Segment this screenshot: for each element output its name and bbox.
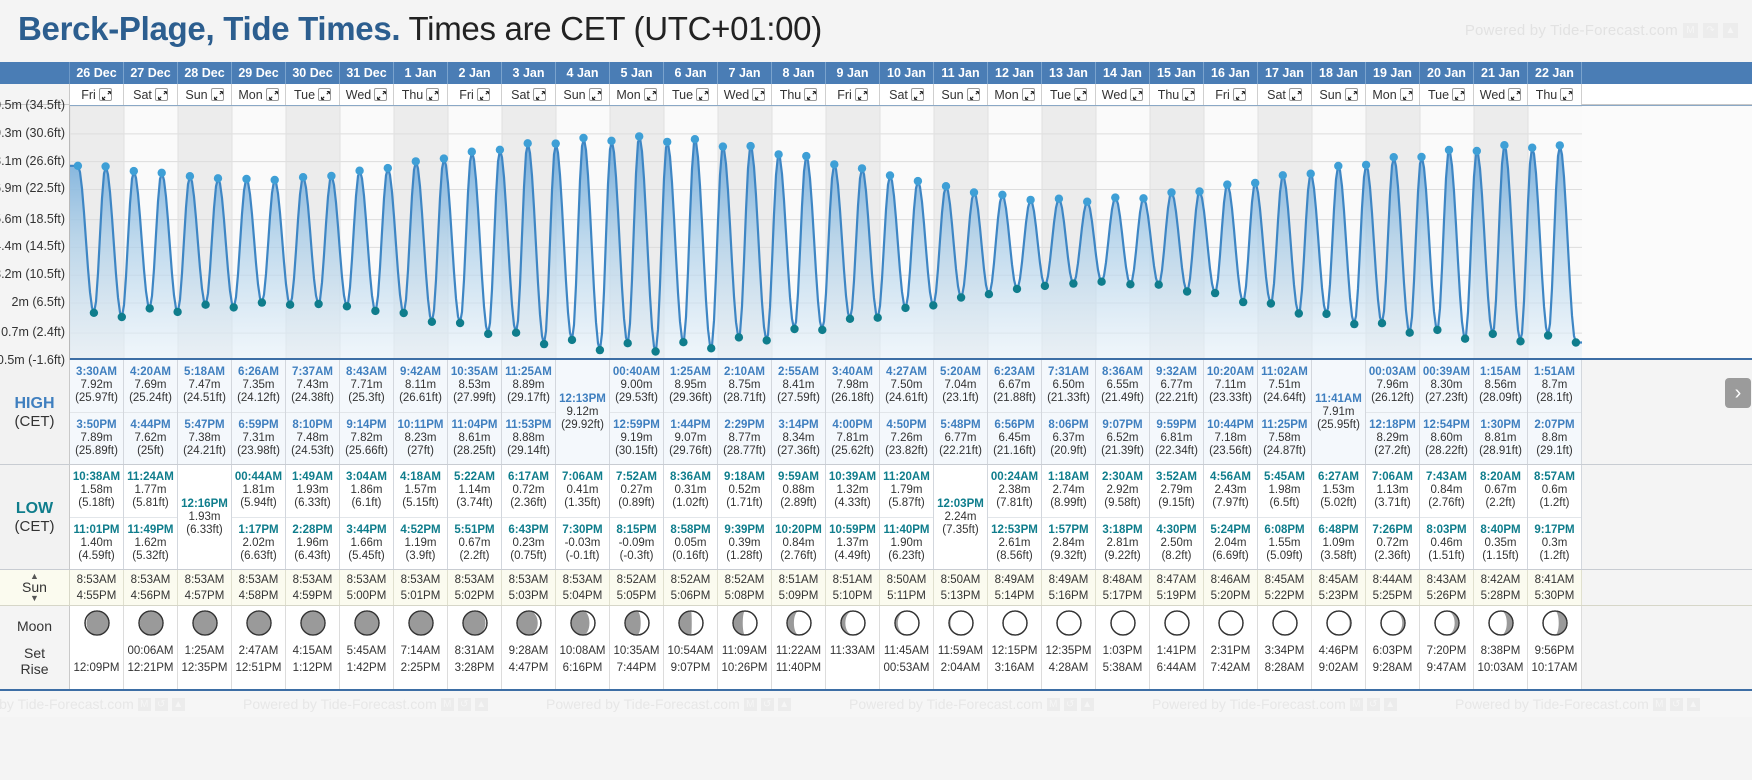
footer-watermark-text: Powered by Tide-Forecast.com	[0, 696, 134, 712]
date-header-cell[interactable]: 10 Jan	[880, 62, 934, 84]
high-tide-height-m: 6.55m	[1107, 379, 1139, 392]
expand-icon[interactable]	[1452, 88, 1465, 101]
high-tide-height-ft: (25.62ft)	[831, 445, 874, 458]
moon-cell: 9:28AM4:47PM	[502, 606, 556, 689]
sunrise-time: 8:49AM	[995, 573, 1035, 587]
sunrise-time: 8:53AM	[131, 573, 171, 587]
high-tide-cell: 1:15AM8.56m(28.09ft)1:30PM8.81m(28.91ft)	[1474, 360, 1528, 464]
high-tide-cell: 12:13PM9.12m(29.92ft)	[556, 360, 610, 464]
moon-label: Moon Set Rise	[0, 606, 70, 689]
expand-icon[interactable]	[1022, 88, 1035, 101]
low-tide-height-ft: (2.36ft)	[510, 497, 546, 510]
weekday-header-cell: Tue	[1042, 84, 1096, 105]
low-tide-time: 1:18AM	[1048, 471, 1089, 484]
low-tide-height-ft: (5.45ft)	[348, 550, 384, 563]
high-tide-time: 00:03AM	[1369, 366, 1416, 379]
low-tide-height-ft: (2.76ft)	[1428, 497, 1464, 510]
high-tide-event: 9:07PM6.52m(21.39ft)	[1096, 412, 1149, 465]
low-tide-event: 7:52AM0.27m(0.89ft)	[610, 465, 663, 517]
low-tide-height-m: 1.66m	[351, 537, 383, 550]
expand-icon[interactable]	[804, 88, 817, 101]
high-tide-event: 1:51AM8.7m(28.1ft)	[1528, 360, 1581, 412]
high-tide-time: 5:20AM	[940, 366, 981, 379]
low-tide-event: 12:53PM2.61m(8.56ft)	[988, 517, 1041, 570]
sunrise-time: 8:51AM	[779, 573, 819, 587]
expand-icon[interactable]	[911, 88, 924, 101]
sunrise-time: 8:52AM	[725, 573, 765, 587]
low-tide-time: 7:26PM	[1372, 524, 1412, 537]
high-tide-row: HIGH (CET) 3:30AM7.92m(25.97ft)3:50PM7.8…	[0, 360, 1752, 465]
high-tide-event: 8:06PM6.37m(20.9ft)	[1042, 412, 1095, 465]
high-tide-height-m: 8.41m	[783, 379, 815, 392]
low-tide-cell: 7:52AM0.27m(0.89ft)8:15PM-0.09m(-0.3ft)	[610, 465, 664, 569]
expand-icon[interactable]	[644, 88, 657, 101]
weekday-header-cell: Sat	[1258, 84, 1312, 105]
moon-phase-icon	[84, 610, 110, 641]
date-header-cell[interactable]: 31 Dec	[340, 62, 394, 84]
footer-watermark: Powered by Tide-Forecast.comM↺▲	[849, 696, 1094, 712]
expand-icon[interactable]	[589, 88, 602, 101]
footer-watermark: Powered by Tide-Forecast.comM↺▲	[1455, 696, 1700, 712]
high-tide-event: 3:14PM8.34m(27.36ft)	[772, 412, 825, 465]
date-header-cell[interactable]: 17 Jan	[1258, 62, 1312, 84]
high-tide-height-ft: (27.99ft)	[453, 392, 496, 405]
moon-phase-icon	[354, 610, 380, 641]
low-tide-event: 11:24AM1.77m(5.81ft)	[124, 465, 177, 517]
expand-icon[interactable]	[752, 88, 765, 101]
high-tide-height-ft: (29.1ft)	[1536, 445, 1572, 458]
low-tide-time: 8:03PM	[1426, 524, 1466, 537]
expand-icon[interactable]	[1508, 88, 1521, 101]
moon-phase-icon	[1218, 610, 1244, 641]
low-tide-height-ft: (5.32ft)	[132, 550, 168, 563]
scroll-right-arrow-icon[interactable]: ›	[1725, 378, 1751, 408]
expand-icon[interactable]	[1182, 88, 1195, 101]
expand-icon[interactable]	[967, 88, 980, 101]
date-header-cell[interactable]: 28 Dec	[178, 62, 232, 84]
high-tide-height-m: 6.37m	[1053, 432, 1085, 445]
high-tide-height-m: 6.77m	[1161, 379, 1193, 392]
weekday-header-cell: Sun	[178, 84, 232, 105]
expand-icon[interactable]	[1345, 88, 1358, 101]
high-tide-event: 2:07PM8.8m(29.1ft)	[1528, 412, 1581, 465]
high-tide-height-ft: (22.34ft)	[1155, 445, 1198, 458]
low-tide-height-ft: (5.94ft)	[240, 497, 276, 510]
low-tide-height-ft: (5.09ft)	[1266, 550, 1302, 563]
weekday-header-cell: Thu	[1150, 84, 1204, 105]
expand-icon[interactable]	[1400, 88, 1413, 101]
low-tide-time: 3:44PM	[346, 524, 386, 537]
high-tide-height-ft: (24.12ft)	[237, 392, 280, 405]
moon-cell: 1:03PM5:38AM	[1096, 606, 1150, 689]
moonset-time: 12:35PM	[1045, 643, 1091, 660]
low-tide-event: 9:59AM0.88m(2.89ft)	[772, 465, 825, 517]
high-tide-height-ft: (24.61ft)	[885, 392, 928, 405]
low-tide-time: 8:58PM	[670, 524, 710, 537]
low-tide-time: 6:17AM	[508, 471, 549, 484]
moon-cell: 4:15AM1:12PM	[286, 606, 340, 689]
footer-watermark-text: Powered by Tide-Forecast.com	[243, 696, 437, 712]
expand-icon[interactable]	[155, 88, 168, 101]
high-tide-event: 2:10AM8.75m(28.71ft)	[718, 360, 771, 412]
sunrise-time: 8:46AM	[1211, 573, 1251, 587]
low-tide-time: 1:57PM	[1048, 524, 1088, 537]
footer-watermark-text: Powered by Tide-Forecast.com	[1455, 696, 1649, 712]
low-tide-height-ft: (6.33ft)	[294, 497, 330, 510]
low-tide-height-m: 0.88m	[783, 484, 815, 497]
date-header-cell[interactable]: 15 Jan	[1150, 62, 1204, 84]
high-tide-time: 11:25PM	[1261, 419, 1307, 432]
high-tide-time: 2:10AM	[724, 366, 765, 379]
high-tide-event: 8:43AM7.71m(25.3ft)	[340, 360, 393, 412]
expand-icon[interactable]	[374, 88, 387, 101]
footer-watermark-text: Powered by Tide-Forecast.com	[849, 696, 1043, 712]
moon-cell: 12:09PM	[70, 606, 124, 689]
moonset-time: 11:45AM	[884, 643, 929, 660]
low-tide-event: 5:45AM1.98m(6.5ft)	[1258, 465, 1311, 517]
moon-phase-icon	[1380, 610, 1406, 641]
high-tide-time: 9:42AM	[400, 366, 441, 379]
y-axis-tick-label: 0.7m (2.4ft)	[1, 325, 65, 339]
high-tide-cell: 5:18AM7.47m(24.51ft)5:47PM7.38m(24.21ft)	[178, 360, 232, 464]
moon-cell: 9:56PM10:17AM	[1528, 606, 1582, 689]
high-tide-time: 12:13PM	[559, 393, 606, 406]
low-tide-event: 8:40PM0.35m(1.15ft)	[1474, 517, 1527, 570]
high-tide-height-m: 7.04m	[945, 379, 977, 392]
low-tide-time: 6:48PM	[1318, 524, 1358, 537]
moon-cell: 2:47AM12:51PM	[232, 606, 286, 689]
expand-icon[interactable]	[211, 88, 224, 101]
moon-phase-icon	[300, 610, 326, 641]
low-tide-height-ft: (1.2ft)	[1539, 497, 1569, 510]
low-tide-height-m: 0.23m	[513, 537, 545, 550]
moonset-time: 6:03PM	[1373, 643, 1413, 660]
sunrise-time: 8:45AM	[1265, 573, 1305, 587]
sun-cell: 8:53AM4:58PM	[232, 570, 286, 605]
low-tide-time: 5:51PM	[454, 524, 494, 537]
low-tide-time: 9:59AM	[778, 471, 819, 484]
low-tide-height-m: 1.98m	[1269, 484, 1301, 497]
sunrise-time: 8:53AM	[239, 573, 279, 587]
high-tide-cell: 7:37AM7.43m(24.38ft)8:10PM7.48m(24.53ft)	[286, 360, 340, 464]
low-tide-height-ft: (6.43ft)	[294, 550, 330, 563]
low-tide-time: 00:24AM	[991, 471, 1038, 484]
low-tide-cell: 8:57AM0.6m(1.2ft)9:17PM0.3m(1.2ft)	[1528, 465, 1582, 569]
date-header-cell[interactable]: 13 Jan	[1042, 62, 1096, 84]
high-tide-event: 4:44PM7.62m(25ft)	[124, 412, 177, 465]
date-header-cell[interactable]: 29 Dec	[232, 62, 286, 84]
moon-phase-icon	[1164, 610, 1190, 641]
high-tide-height-m: 6.52m	[1107, 432, 1139, 445]
date-header-cell[interactable]: 27 Dec	[124, 62, 178, 84]
expand-icon[interactable]	[1074, 88, 1087, 101]
low-tide-time: 7:43AM	[1426, 471, 1467, 484]
sun-cell: 8:49AM5:16PM	[1042, 570, 1096, 605]
expand-icon[interactable]	[1233, 88, 1246, 101]
weekday-label: Tue	[294, 88, 315, 102]
sun-cell: 8:53AM4:57PM	[178, 570, 232, 605]
moonrise-time: 7:42AM	[1211, 660, 1251, 677]
moon-phase-icon	[1434, 610, 1460, 641]
expand-icon[interactable]	[696, 88, 709, 101]
weekday-header-cell: Tue	[664, 84, 718, 105]
weekday-label: Sat	[889, 88, 908, 102]
high-tide-cell: 8:36AM6.55m(21.49ft)9:07PM6.52m(21.39ft)	[1096, 360, 1150, 464]
sunset-time: 4:58PM	[239, 589, 279, 603]
sunrise-time: 8:52AM	[617, 573, 657, 587]
y-axis-tick-label: 6.9m (22.5ft)	[0, 181, 65, 195]
high-tide-height-m: 8.7m	[1542, 379, 1568, 392]
weekday-header-cell: Sun	[556, 84, 610, 105]
expand-icon[interactable]	[426, 88, 439, 101]
high-tide-height-ft: (23.82ft)	[885, 445, 928, 458]
low-tide-time: 12:16PM	[181, 498, 228, 511]
sunrise-time: 8:53AM	[77, 573, 117, 587]
high-tide-time: 3:30AM	[76, 366, 117, 379]
low-tide-cell: 6:17AM0.72m(2.36ft)6:43PM0.23m(0.75ft)	[502, 465, 556, 569]
expand-icon[interactable]	[855, 88, 868, 101]
low-tide-event: 8:03PM0.46m(1.51ft)	[1420, 517, 1473, 570]
low-tide-cell: 12:16PM1.93m(6.33ft)	[178, 465, 232, 569]
high-tide-event: 11:02AM7.51m(24.64ft)	[1258, 360, 1311, 412]
high-tide-height-m: 6.81m	[1161, 432, 1193, 445]
moonrise-time: 2:25PM	[401, 660, 441, 677]
low-tide-cell: 3:04AM1.86m(6.1ft)3:44PM1.66m(5.45ft)	[340, 465, 394, 569]
date-header-cell[interactable]: 5 Jan	[610, 62, 664, 84]
date-header-cell[interactable]: 8 Jan	[772, 62, 826, 84]
low-tide-height-m: 0.72m	[1377, 537, 1409, 550]
high-tide-height-m: 7.62m	[135, 432, 167, 445]
high-tide-height-ft: (27.23ft)	[1425, 392, 1468, 405]
high-tide-height-m: 8.60m	[1431, 432, 1463, 445]
high-tide-height-ft: (24.64ft)	[1263, 392, 1306, 405]
date-header-cell[interactable]: 18 Jan	[1312, 62, 1366, 84]
moon-cell: 11:09AM10:26PM	[718, 606, 772, 689]
low-tide-event: 00:44AM1.81m(5.94ft)	[232, 465, 285, 517]
low-tide-height-m: 2.84m	[1053, 537, 1085, 550]
watermark-icon-1: M	[1683, 23, 1698, 38]
weekday-header-cell: Tue	[1420, 84, 1474, 105]
moonrise-time: 10:03AM	[1477, 660, 1523, 677]
low-tide-cell: 6:27AM1.53m(5.02ft)6:48PM1.09m(3.58ft)	[1312, 465, 1366, 569]
low-tide-time: 6:43PM	[508, 524, 548, 537]
sun-cell: 8:42AM5:28PM	[1474, 570, 1528, 605]
moonset-time: 12:15PM	[991, 643, 1037, 660]
high-tide-time: 11:25AM	[505, 366, 552, 379]
low-tide-height-ft: (1.2ft)	[1539, 550, 1569, 563]
low-tide-event: 12:03PM2.24m(7.35ft)	[934, 465, 987, 569]
moon-phase-icon	[138, 610, 164, 641]
low-tide-height-ft: (-0.3ft)	[620, 550, 654, 563]
high-tide-height-m: 6.45m	[999, 432, 1031, 445]
high-tide-cell: 3:40AM7.98m(26.18ft)4:00PM7.81m(25.62ft)	[826, 360, 880, 464]
date-header-cell[interactable]: 1 Jan	[394, 62, 448, 84]
expand-icon[interactable]	[99, 88, 112, 101]
sun-cell: 8:47AM5:19PM	[1150, 570, 1204, 605]
high-tide-height-ft: (23.33ft)	[1209, 392, 1252, 405]
high-tide-event: 00:40AM9.00m(29.53ft)	[610, 360, 663, 412]
date-header-cell[interactable]: 11 Jan	[934, 62, 988, 84]
low-tide-height-m: 0.31m	[675, 484, 707, 497]
date-header-cell[interactable]: 7 Jan	[718, 62, 772, 84]
low-tide-label: LOW (CET)	[0, 465, 70, 569]
high-tide-cell: 11:41AM7.91m(25.95ft)	[1312, 360, 1366, 464]
date-header-cell[interactable]: 20 Jan	[1420, 62, 1474, 84]
sunset-time: 5:10PM	[833, 589, 873, 603]
low-tide-event: 00:24AM2.38m(7.81ft)	[988, 465, 1041, 517]
high-tide-cell: 6:26AM7.35m(24.12ft)6:59PM7.31m(23.98ft)	[232, 360, 286, 464]
footer-watermark: Powered by Tide-Forecast.comM↺▲	[546, 696, 791, 712]
moonrise-time	[851, 660, 854, 677]
date-header-cell[interactable]: 2 Jan	[448, 62, 502, 84]
sun-cell: 8:49AM5:14PM	[988, 570, 1042, 605]
weekday-header-cell: Wed	[1096, 84, 1150, 105]
expand-icon[interactable]	[318, 88, 331, 101]
high-tide-height-ft: (26.61ft)	[399, 392, 442, 405]
date-header-cell[interactable]: 22 Jan	[1528, 62, 1582, 84]
low-tide-height-ft: (1.15ft)	[1482, 550, 1518, 563]
sunrise-time: 8:50AM	[887, 573, 927, 587]
high-tide-event: 1:44PM9.07m(29.76ft)	[664, 412, 717, 465]
low-tide-event: 2:30AM2.92m(9.58ft)	[1096, 465, 1149, 517]
high-tide-cell: 6:23AM6.67m(21.88ft)6:56PM6.45m(21.16ft)	[988, 360, 1042, 464]
low-tide-time: 2:30AM	[1102, 471, 1143, 484]
low-tide-time: 10:20PM	[775, 524, 822, 537]
expand-icon[interactable]	[533, 88, 546, 101]
low-tide-height-ft: (8.99ft)	[1050, 497, 1086, 510]
moonset-time: 10:35AM	[613, 643, 659, 660]
low-tide-height-m: 2.61m	[999, 537, 1031, 550]
low-tide-height-m: 1.90m	[891, 537, 923, 550]
low-tide-event: 11:20AM1.79m(5.87ft)	[880, 465, 933, 517]
high-tide-height-ft: (28.22ft)	[1425, 445, 1468, 458]
high-tide-height-m: 9.00m	[621, 379, 653, 392]
low-tide-event: 1:49AM1.93m(6.33ft)	[286, 465, 339, 517]
date-header-cell[interactable]: 6 Jan	[664, 62, 718, 84]
low-tide-row: LOW (CET) 10:38AM1.58m(5.18ft)11:01PM1.4…	[0, 465, 1752, 570]
sunrise-time: 8:49AM	[1049, 573, 1089, 587]
footer-watermark-row: Powered by Tide-Forecast.comM↺▲Powered b…	[0, 691, 1752, 717]
low-tide-cell: 9:59AM0.88m(2.89ft)10:20PM0.84m(2.76ft)	[772, 465, 826, 569]
date-header-cell[interactable]: 14 Jan	[1096, 62, 1150, 84]
low-tide-time: 8:40PM	[1480, 524, 1520, 537]
moonrise-time: 7:44PM	[617, 660, 657, 677]
date-header-cell[interactable]: 4 Jan	[556, 62, 610, 84]
sunrise-time: 8:41AM	[1535, 573, 1575, 587]
moonrise-time: 12:51PM	[235, 660, 281, 677]
low-tide-height-m: 1.81m	[243, 484, 275, 497]
weekday-header-cell: Mon	[988, 84, 1042, 105]
weekday-header-cell: Sun	[1312, 84, 1366, 105]
high-tide-event: 4:50PM7.26m(23.82ft)	[880, 412, 933, 465]
low-tide-height-ft: (7.97ft)	[1212, 497, 1248, 510]
high-tide-height-m: 7.96m	[1377, 379, 1409, 392]
expand-icon[interactable]	[1289, 88, 1302, 101]
high-tide-height-ft: (27.59ft)	[777, 392, 820, 405]
high-tide-height-m: 8.8m	[1542, 432, 1568, 445]
date-header-cell[interactable]: 12 Jan	[988, 62, 1042, 84]
low-tide-event: 12:16PM1.93m(6.33ft)	[178, 465, 231, 569]
date-header-cell[interactable]: 21 Jan	[1474, 62, 1528, 84]
tide-curve-chart[interactable]	[70, 105, 1752, 360]
low-tide-event: 5:51PM0.67m(2.2ft)	[448, 517, 501, 570]
weekday-label: Fri	[459, 88, 474, 102]
low-tide-time: 11:24AM	[127, 471, 174, 484]
high-tide-time: 2:29PM	[724, 419, 764, 432]
expand-icon[interactable]	[477, 88, 490, 101]
low-tide-time: 7:30PM	[562, 524, 602, 537]
moon-cell: 11:59AM2:04AM	[934, 606, 988, 689]
weekday-header-cell: Mon	[610, 84, 664, 105]
high-tide-height-ft: (29.76ft)	[669, 445, 712, 458]
low-tide-time: 7:06AM	[1372, 471, 1413, 484]
high-tide-height-ft: (25.95ft)	[1317, 419, 1360, 432]
low-tide-event: 6:43PM0.23m(0.75ft)	[502, 517, 555, 570]
high-tide-cell: 00:03AM7.96m(26.12ft)12:18PM8.29m(27.2ft…	[1366, 360, 1420, 464]
moonrise-time: 3:28PM	[455, 660, 495, 677]
date-header-cell[interactable]: 16 Jan	[1204, 62, 1258, 84]
high-tide-event: 7:31AM6.50m(21.33ft)	[1042, 360, 1095, 412]
weekday-label: Thu	[1158, 88, 1180, 102]
low-tide-height-m: 2.24m	[945, 511, 977, 524]
moonset-time: 00:06AM	[127, 643, 173, 660]
expand-icon[interactable]	[1560, 88, 1573, 101]
date-header-cell[interactable]: 3 Jan	[502, 62, 556, 84]
moonrise-time: 3:16AM	[995, 660, 1035, 677]
low-tide-time: 8:57AM	[1534, 471, 1575, 484]
footer-watermark-icon-3: ▲	[1081, 698, 1094, 711]
low-tide-time: 10:39AM	[829, 471, 876, 484]
low-tide-cell: 9:18AM0.52m(1.71ft)9:39PM0.39m(1.28ft)	[718, 465, 772, 569]
date-header-cell[interactable]: 19 Jan	[1366, 62, 1420, 84]
high-tide-time: 6:23AM	[994, 366, 1035, 379]
high-tide-event: 00:39AM8.30m(27.23ft)	[1420, 360, 1473, 412]
low-tide-event: 3:18PM2.81m(9.22ft)	[1096, 517, 1149, 570]
sun-cell: 8:50AM5:13PM	[934, 570, 988, 605]
high-tide-height-m: 7.92m	[81, 379, 113, 392]
high-tide-event: 9:59PM6.81m(22.34ft)	[1150, 412, 1203, 465]
weekday-label: Thu	[402, 88, 424, 102]
expand-icon[interactable]	[266, 88, 279, 101]
footer-watermark-icon-1: M	[744, 698, 757, 711]
date-header-cell[interactable]: 26 Dec	[70, 62, 124, 84]
low-tide-height-m: 1.93m	[297, 484, 329, 497]
moonrise-time: 10:26PM	[721, 660, 767, 677]
low-tide-height-ft: (0.75ft)	[510, 550, 546, 563]
moon-phase-icon	[570, 610, 596, 641]
high-tide-event: 11:25AM8.89m(29.17ft)	[502, 360, 555, 412]
date-header-cell[interactable]: 30 Dec	[286, 62, 340, 84]
high-tide-height-ft: (29.53ft)	[615, 392, 658, 405]
high-tide-height-ft: (24.51ft)	[183, 392, 226, 405]
footer-watermark-icon-1: M	[138, 698, 151, 711]
moon-cell: 11:33AM	[826, 606, 880, 689]
high-tide-height-m: 7.43m	[297, 379, 329, 392]
weekday-header-cell: Thu	[1528, 84, 1582, 105]
low-tide-height-m: 1.19m	[405, 537, 437, 550]
sun-cell: 8:45AM5:23PM	[1312, 570, 1366, 605]
high-tide-height-ft: (26.12ft)	[1371, 392, 1414, 405]
high-tide-event: 1:15AM8.56m(28.09ft)	[1474, 360, 1527, 412]
low-tide-event: 10:39AM1.32m(4.33ft)	[826, 465, 879, 517]
date-header-cell[interactable]: 9 Jan	[826, 62, 880, 84]
low-tide-event: 9:18AM0.52m(1.71ft)	[718, 465, 771, 517]
moonrise-label: Rise	[20, 661, 48, 677]
expand-icon[interactable]	[1130, 88, 1143, 101]
low-tide-event: 5:24PM2.04m(6.69ft)	[1204, 517, 1257, 570]
low-tide-cell: 12:03PM2.24m(7.35ft)	[934, 465, 988, 569]
moon-phase-icon	[1272, 610, 1298, 641]
